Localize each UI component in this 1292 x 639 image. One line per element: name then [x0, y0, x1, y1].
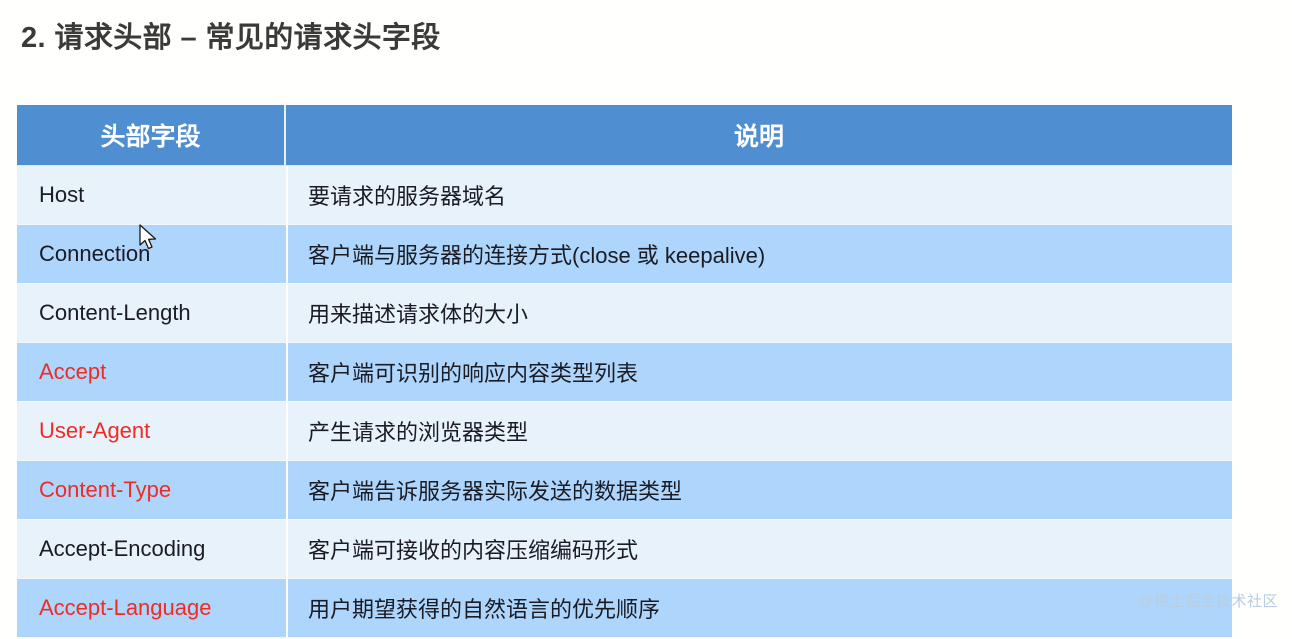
table-row: Accept客户端可识别的响应内容类型列表: [17, 343, 1232, 402]
cell-description: 客户端可识别的响应内容类型列表: [286, 343, 1232, 402]
cell-description: 产生请求的浏览器类型: [286, 402, 1232, 461]
cell-header-field: Accept: [17, 343, 286, 402]
cell-header-field: Accept-Encoding: [17, 520, 286, 579]
table-body: Host要请求的服务器域名Connection客户端与服务器的连接方式(clos…: [17, 166, 1232, 638]
table-row: Accept-Encoding客户端可接收的内容压缩编码形式: [17, 520, 1232, 579]
cell-header-field: Host: [17, 166, 286, 225]
cell-header-field: Connection: [17, 225, 286, 284]
cell-description: 客户端可接收的内容压缩编码形式: [286, 520, 1232, 579]
cell-description: 用户期望获得的自然语言的优先顺序: [286, 579, 1232, 638]
table-header: 头部字段 说明: [17, 105, 1232, 166]
column-header-description: 说明: [286, 105, 1232, 166]
table-row: User-Agent产生请求的浏览器类型: [17, 402, 1232, 461]
table-row: Content-Length用来描述请求体的大小: [17, 284, 1232, 343]
table-row: Accept-Language用户期望获得的自然语言的优先顺序: [17, 579, 1232, 638]
table-header-row: 头部字段 说明: [17, 105, 1232, 166]
cell-header-field: Content-Type: [17, 461, 286, 520]
table-row: Content-Type客户端告诉服务器实际发送的数据类型: [17, 461, 1232, 520]
cell-description: 要请求的服务器域名: [286, 166, 1232, 225]
table-row: Connection客户端与服务器的连接方式(close 或 keepalive…: [17, 225, 1232, 284]
cell-description: 客户端告诉服务器实际发送的数据类型: [286, 461, 1232, 520]
cell-description: 客户端与服务器的连接方式(close 或 keepalive): [286, 225, 1232, 284]
table-row: Host要请求的服务器域名: [17, 166, 1232, 225]
watermark: @稀土掘金技术社区: [1138, 590, 1278, 611]
cell-description: 用来描述请求体的大小: [286, 284, 1232, 343]
cell-header-field: Content-Length: [17, 284, 286, 343]
cell-header-field: Accept-Language: [17, 579, 286, 638]
page-title: 2. 请求头部 – 常见的请求头字段: [21, 14, 441, 56]
column-header-field: 头部字段: [17, 105, 286, 166]
request-header-fields-table: 头部字段 说明 Host要请求的服务器域名Connection客户端与服务器的连…: [17, 105, 1232, 638]
cell-header-field: User-Agent: [17, 402, 286, 461]
